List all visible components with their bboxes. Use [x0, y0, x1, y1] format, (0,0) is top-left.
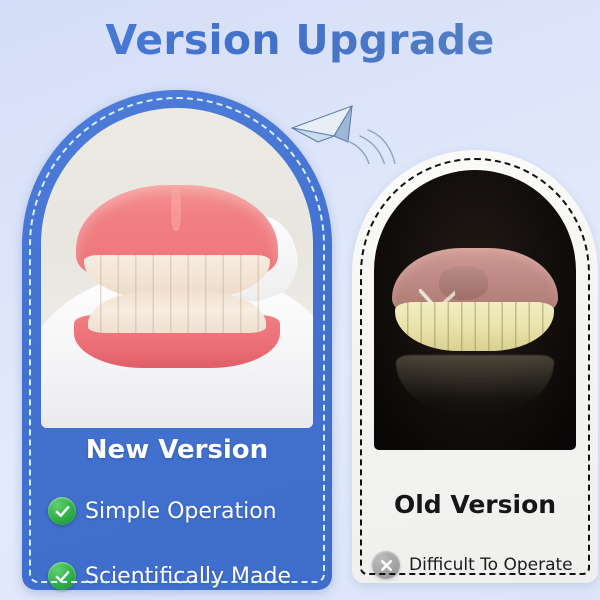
check-circle-icon: [48, 497, 76, 525]
page-title: Version Upgrade: [0, 16, 600, 64]
list-item-label: Scientifically Made: [85, 564, 291, 589]
old-denture-reflection: [396, 355, 554, 417]
new-version-card: New Version Simple Operation Scientifica…: [22, 90, 332, 590]
denture-model: [76, 185, 277, 361]
list-item: Scientifically Made: [48, 553, 328, 599]
old-version-title: Old Version: [352, 490, 598, 519]
old-version-card: Old Version Difficult To Operate Crude P…: [352, 150, 598, 583]
list-item: Simple Operation: [48, 488, 328, 534]
old-teeth: [395, 302, 554, 351]
page-header: Version Upgrade: [0, 16, 600, 64]
list-item-label: Difficult To Operate: [409, 555, 573, 575]
old-version-drawback-list: Difficult To Operate Crude Production Po…: [372, 544, 598, 600]
old-denture-model: [392, 248, 558, 360]
list-item: Difficult To Operate: [372, 544, 598, 586]
new-version-feature-list: Simple Operation Scientifically Made Qua…: [48, 488, 328, 600]
new-version-title: New Version: [22, 435, 332, 465]
tooth-separation-lines: [84, 255, 269, 332]
old-denture-photo: [374, 170, 576, 450]
check-circle-icon: [48, 562, 76, 590]
list-item-label: Simple Operation: [85, 499, 277, 524]
new-denture-photo: [41, 108, 313, 428]
paper-plane-icon: [288, 92, 396, 164]
cross-circle-icon: [372, 551, 400, 579]
motion-arc-lines: [350, 130, 395, 164]
